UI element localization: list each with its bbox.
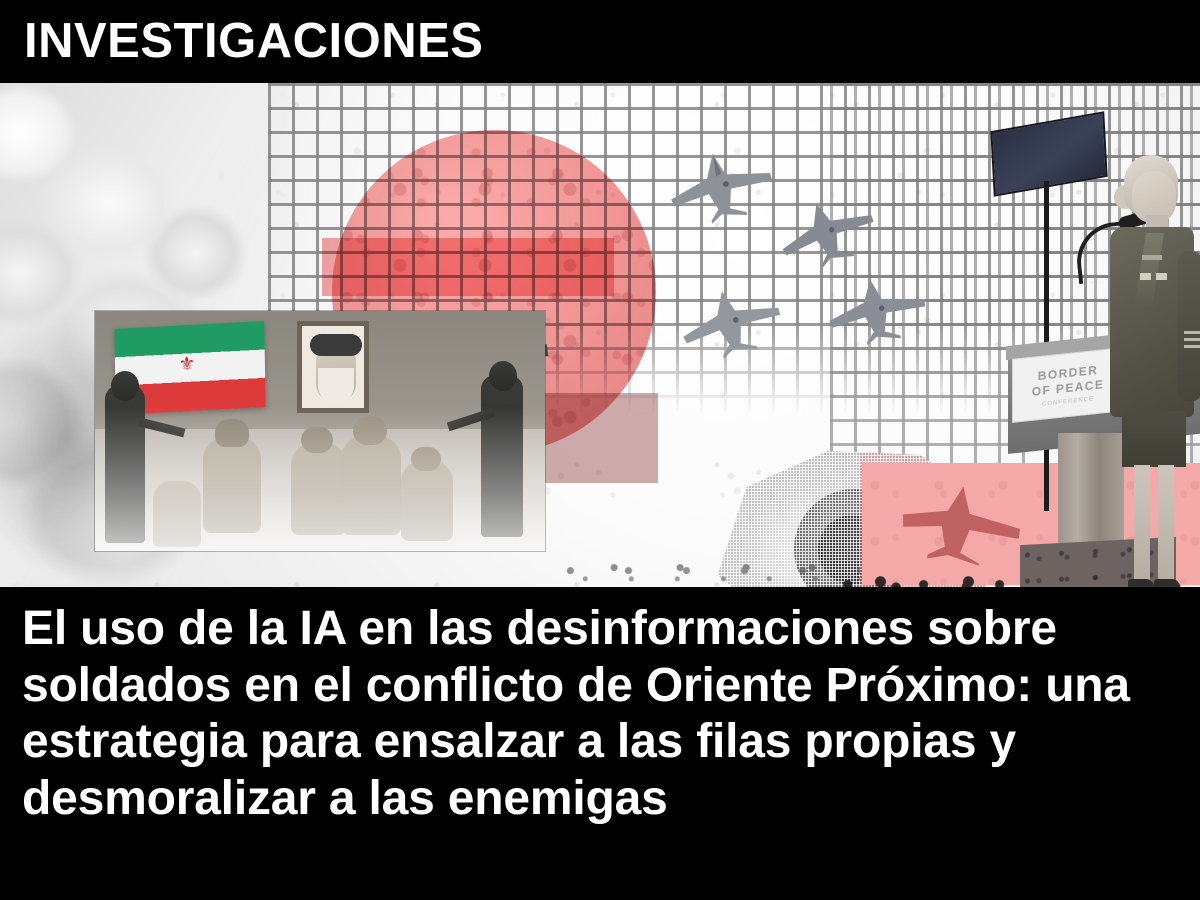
fighter-jet-icon [669, 270, 795, 369]
section-kicker-bar: INVESTIGACIONES [0, 0, 1200, 83]
section-kicker-label[interactable]: INVESTIGACIONES [24, 17, 483, 66]
teleprompter-screen [990, 111, 1107, 196]
uniform-chevron [1184, 338, 1200, 341]
speaker-arm [1178, 251, 1200, 401]
uniform-badge [1156, 273, 1167, 280]
page-title[interactable]: El uso de la IA en las desinformaciones … [22, 601, 1178, 828]
uniform-chevron [1184, 331, 1200, 334]
fighter-jet-icon [767, 180, 890, 281]
inset-haze-overlay [95, 311, 545, 551]
speaker-skirt [1122, 411, 1186, 467]
speaker-leg [1134, 465, 1150, 583]
headline-block: El uso de la IA en las desinformaciones … [0, 587, 1200, 900]
uniform-badge [1140, 273, 1151, 280]
podium-sign-subtitle: CONFERENCE [1042, 396, 1094, 407]
fighter-jet-icon [818, 262, 938, 353]
article-hero-card: INVESTIGACIONES [0, 0, 1200, 900]
speaker-shoe [1128, 579, 1154, 587]
ink-spatter-center [560, 553, 860, 587]
hero-collage-image[interactable]: BORDER OF PEACE CONFERENCE [0, 83, 1200, 587]
podium-speaker-scene: BORDER OF PEACE CONFERENCE [980, 103, 1200, 587]
uniform-ribbon [1142, 255, 1162, 260]
inset-photo-soldiers[interactable]: ⚜ [95, 311, 545, 551]
speaker-leg [1158, 465, 1174, 583]
speaker-shoe [1154, 579, 1180, 587]
military-speaker-figure [1100, 155, 1200, 585]
uniform-chevron [1184, 345, 1200, 348]
